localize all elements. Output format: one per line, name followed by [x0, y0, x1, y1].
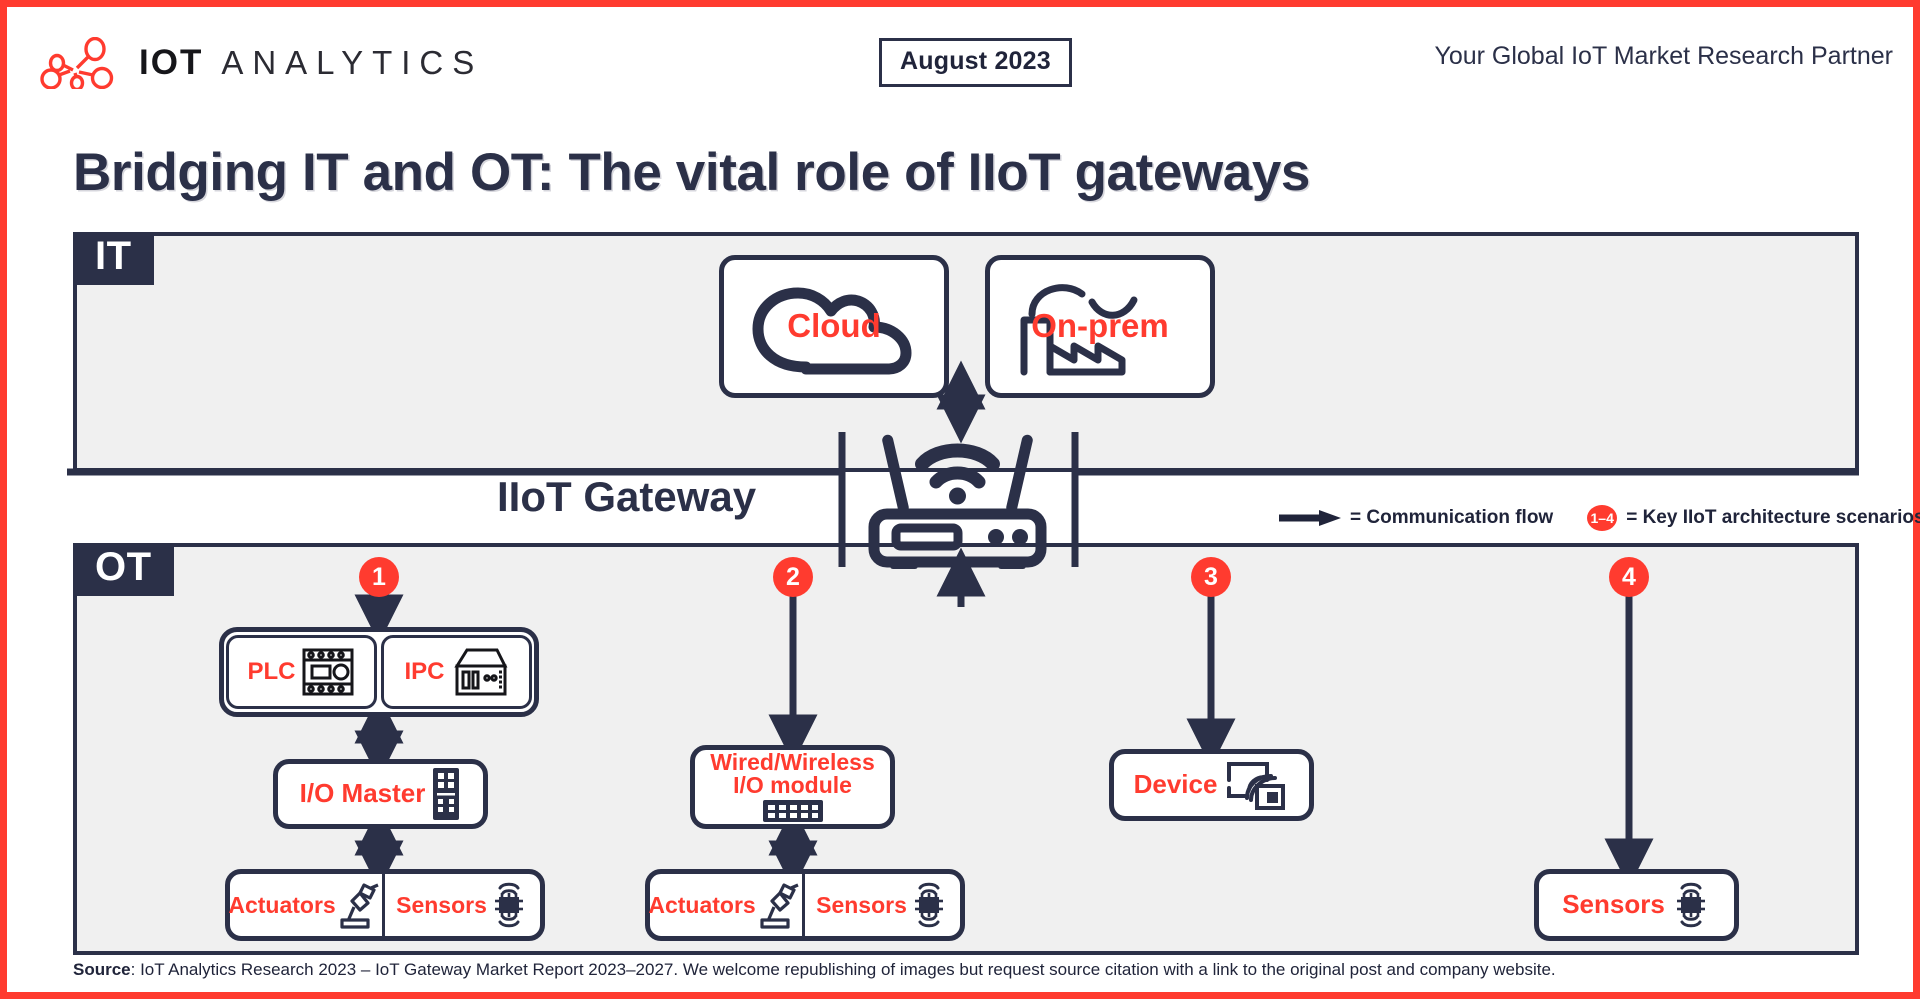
sensors-label-2: Sensors: [816, 892, 907, 919]
plc-terminal-icon: [300, 646, 356, 698]
io-master-node: I/O Master: [273, 759, 488, 829]
sensor-chip-icon: [1671, 877, 1711, 933]
wired-wireless-io-module-node: Wired/Wireless I/O module: [690, 745, 895, 829]
logo-analytics-text: ANALYTICS: [221, 44, 483, 82]
io-module-horizontal-icon: [762, 799, 824, 823]
device-node: Device: [1109, 749, 1314, 821]
ipc-node: IPC: [381, 635, 532, 709]
ot-zone-badge: OT: [73, 543, 174, 596]
sensors-label-4: Sensors: [1562, 891, 1665, 918]
logo-wordmark: IOT ANALYTICS: [139, 43, 483, 83]
sensors-node-2: Sensors: [805, 874, 960, 936]
actuators-sensors-group-2: Actuators Sensors: [645, 869, 965, 941]
plc-node: PLC: [226, 635, 377, 709]
sensors-label-1: Sensors: [396, 892, 487, 919]
it-zone-badge: IT: [73, 232, 154, 285]
sensors-node-4: Sensors: [1534, 869, 1739, 941]
gateway-label: IIoT Gateway: [497, 473, 756, 521]
sensor-chip-icon: [909, 877, 949, 933]
page-title: Bridging IT and OT: The vital role of II…: [73, 142, 1310, 203]
actuators-label-2: Actuators: [648, 892, 755, 919]
io-master-label: I/O Master: [300, 780, 426, 807]
device-label: Device: [1134, 771, 1218, 798]
actuators-sensors-group-1: Actuators Sensors: [225, 869, 545, 941]
legend: = Communication flow 1–4 = Key IIoT arch…: [1279, 505, 1920, 531]
wwio-label-line1: Wired/Wireless: [710, 751, 874, 774]
cloud-node: Cloud: [719, 255, 949, 398]
robot-arm-icon: [758, 879, 804, 931]
scenario-range-chip: 1–4: [1587, 505, 1617, 531]
scenario-marker-2: 2: [773, 557, 813, 597]
infographic-page: IOT ANALYTICS August 2023 Your Global Io…: [0, 0, 1920, 999]
cloud-label: Cloud: [787, 309, 880, 344]
onprem-label: On-prem: [1031, 309, 1169, 344]
tagline: Your Global IoT Market Research Partner: [1434, 42, 1893, 71]
ipc-label: IPC: [404, 658, 444, 686]
iiot-gateway-router-icon: [850, 422, 1065, 577]
robot-arm-icon: [338, 879, 384, 931]
scenario-marker-3: 3: [1191, 557, 1231, 597]
plc-label: PLC: [248, 658, 296, 686]
legend-flow-label: = Communication flow: [1350, 507, 1553, 529]
logo-iot-text: IOT: [139, 43, 203, 83]
date-badge: August 2023: [879, 38, 1072, 87]
sensors-node-1: Sensors: [385, 874, 540, 936]
actuators-node-2: Actuators: [650, 874, 805, 936]
actuators-label-1: Actuators: [228, 892, 335, 919]
brand-logo: IOT ANALYTICS: [39, 37, 483, 89]
legend-scenario-label: = Key IIoT architecture scenarios: [1626, 507, 1920, 529]
io-module-vertical-icon: [431, 766, 461, 822]
wwio-label-line2: I/O module: [733, 774, 852, 797]
connected-device-icon: [1223, 758, 1289, 812]
source-prefix: Source: [73, 960, 131, 979]
legend-flow-item: = Communication flow: [1279, 507, 1553, 529]
scenario-marker-1: 1: [359, 557, 399, 597]
plc-ipc-group: PLC IPC: [219, 627, 539, 717]
legend-scenario-item: 1–4 = Key IIoT architecture scenarios: [1587, 505, 1920, 531]
industrial-pc-icon: [449, 646, 509, 698]
actuators-node-1: Actuators: [230, 874, 385, 936]
header: IOT ANALYTICS August 2023 Your Global Io…: [7, 7, 1913, 111]
source-text: : IoT Analytics Research 2023 – IoT Gate…: [131, 960, 1556, 979]
iot-analytics-logo-icon: [39, 37, 117, 89]
onprem-node: On-prem: [985, 255, 1215, 398]
arrow-icon: [1279, 510, 1341, 526]
source-line: Source: IoT Analytics Research 2023 – Io…: [73, 960, 1556, 980]
scenario-marker-4: 4: [1609, 557, 1649, 597]
sensor-chip-icon: [489, 877, 529, 933]
